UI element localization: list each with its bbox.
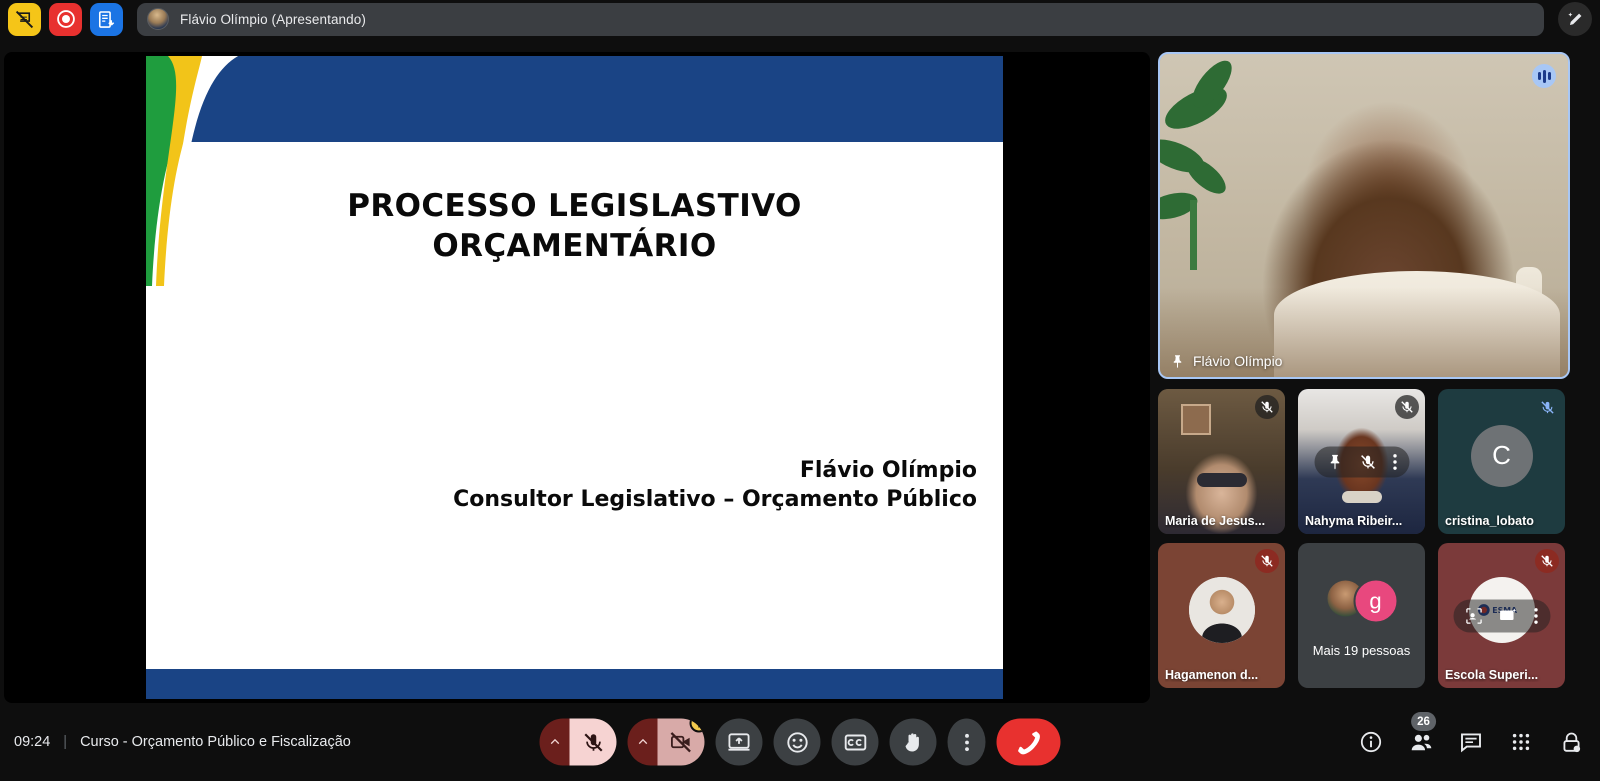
participant-count-badge: 26 [1411, 712, 1436, 731]
pin-icon[interactable] [1326, 453, 1343, 470]
mic-off-glyph [1260, 554, 1274, 568]
participant-tile-hagamenon[interactable]: Hagamenon d... [1158, 543, 1285, 688]
chat-glyph [1459, 730, 1483, 754]
present-button[interactable] [716, 719, 763, 766]
plant-decor-icon [1158, 60, 1274, 320]
more-options-icon[interactable] [1392, 453, 1397, 470]
notes-glyph [97, 10, 116, 29]
overflow-avatars: g [1325, 579, 1398, 624]
camera-off-button[interactable]: ! [628, 719, 705, 766]
pin-icon[interactable] [1170, 354, 1185, 369]
mic-off-glyph [1260, 400, 1274, 414]
magic-pencil-icon[interactable] [1558, 2, 1592, 36]
overflow-participants-tile[interactable]: g Mais 19 pessoas [1298, 543, 1425, 688]
slide-author-role: Consultor Legislativo – Orçamento Públic… [453, 485, 977, 514]
mic-off-icon [1535, 549, 1559, 573]
participant-name: cristina_lobato [1445, 514, 1559, 528]
call-controls: ! [540, 719, 1061, 766]
mic-off-glyph [582, 731, 604, 753]
lock-glyph [1560, 731, 1583, 754]
mic-off-glyph [1400, 400, 1414, 414]
info-glyph [1359, 730, 1383, 754]
avatar-initial: C [1471, 425, 1533, 487]
raise-hand-button[interactable] [890, 719, 937, 766]
present-to-me-icon[interactable] [1498, 606, 1517, 625]
slide-author-name: Flávio Olímpio [453, 456, 977, 485]
camera-off-icon[interactable]: ! [658, 719, 705, 766]
slide: PROCESSO LEGISLASTIVO ORÇAMENTÁRIO Flávi… [146, 56, 1003, 699]
notes-icon[interactable] [90, 3, 123, 36]
grid-glyph [1510, 731, 1532, 753]
people-icon[interactable]: 26 [1408, 729, 1434, 755]
presenter-chip[interactable]: Flávio Olímpio (Apresentando) [137, 3, 1544, 36]
present-icon [728, 731, 751, 754]
participant-name: Nahyma Ribeir... [1305, 514, 1419, 528]
mic-off-icon [1395, 395, 1419, 419]
screen-share-off-glyph [15, 10, 34, 29]
slide-title-line1: PROCESSO LEGISLASTIVO [216, 186, 933, 226]
avatar [147, 8, 169, 30]
info-icon[interactable] [1358, 729, 1384, 755]
more-options-button[interactable] [948, 719, 986, 766]
audio-level-icon [1532, 64, 1556, 88]
spotlight-icon[interactable] [1465, 607, 1482, 624]
mic-off-icon [1535, 395, 1559, 419]
mute-participant-icon[interactable] [1359, 453, 1376, 470]
separator: | [63, 734, 67, 750]
participant-name: Hagamenon d... [1165, 668, 1279, 682]
avatar [1189, 577, 1255, 643]
record-glyph [56, 9, 76, 29]
captions-button[interactable] [832, 719, 879, 766]
participant-tile-escola[interactable]: ESMA [1438, 543, 1565, 688]
chevron-up-glyph [548, 736, 561, 749]
chevron-up-glyph [636, 736, 649, 749]
slide-title: PROCESSO LEGISLASTIVO ORÇAMENTÁRIO [146, 186, 1003, 267]
participant-name: Maria de Jesus... [1165, 514, 1279, 528]
mic-off-icon[interactable] [570, 719, 617, 766]
main-tile-name-row: Flávio Olímpio [1170, 353, 1282, 369]
camera-options-chevron-up-icon[interactable] [628, 719, 658, 766]
slide-title-line2: ORÇAMENTÁRIO [216, 226, 933, 266]
main-speaker-tile[interactable]: Flávio Olímpio [1158, 52, 1570, 379]
meeting-name: Curso - Orçamento Público e Fiscalização [80, 734, 351, 750]
closed-captions-icon [843, 730, 867, 754]
activities-icon[interactable] [1508, 729, 1534, 755]
meet-window: Flávio Olímpio (Apresentando) PROCESSO L… [0, 0, 1600, 781]
top-bar: Flávio Olímpio (Apresentando) [0, 0, 1600, 38]
participant-tile-cristina[interactable]: C cristina_lobato [1438, 389, 1565, 534]
hangup-icon [1015, 728, 1043, 756]
mic-off-icon [1255, 549, 1279, 573]
slide-bottom-band [146, 669, 1003, 699]
hangup-button[interactable] [997, 719, 1061, 766]
necklace [1342, 491, 1382, 503]
host-controls-lock-icon[interactable] [1558, 729, 1584, 755]
right-controls: 26 [1358, 729, 1584, 755]
reactions-button[interactable] [774, 719, 821, 766]
tile-hover-controls [1314, 446, 1409, 477]
tile-hover-controls [1453, 599, 1550, 632]
screen-share-off-icon[interactable] [8, 3, 41, 36]
clock: 09:24 [14, 734, 50, 750]
mic-off-glyph [1540, 400, 1555, 415]
mic-off-icon [1255, 395, 1279, 419]
presentation-stage[interactable]: PROCESSO LEGISLASTIVO ORÇAMENTÁRIO Flávi… [4, 52, 1150, 703]
avatar-initial: g [1353, 579, 1398, 624]
overflow-label: Mais 19 pessoas [1298, 643, 1425, 658]
meeting-info: 09:24 | Curso - Orçamento Público e Fisc… [14, 734, 351, 750]
slide-top-band [146, 56, 1003, 142]
mic-off-button[interactable] [540, 719, 617, 766]
magic-pencil-glyph [1566, 10, 1585, 29]
mic-options-chevron-up-icon[interactable] [540, 719, 570, 766]
presenter-chip-label: Flávio Olímpio (Apresentando) [180, 12, 366, 27]
emoji-icon [785, 730, 809, 754]
participant-filmstrip: Flávio Olímpio Maria de Jesus... [1158, 52, 1572, 703]
main-tile-name: Flávio Olímpio [1193, 353, 1282, 369]
more-options-icon [964, 732, 969, 752]
more-options-icon[interactable] [1533, 607, 1538, 624]
record-icon[interactable] [49, 3, 82, 36]
slide-author: Flávio Olímpio Consultor Legislativo – O… [453, 456, 977, 514]
chat-icon[interactable] [1458, 729, 1484, 755]
bottom-bar: 09:24 | Curso - Orçamento Público e Fisc… [0, 703, 1600, 781]
participant-tile-nahyma[interactable]: Nahyma Ribeir... [1298, 389, 1425, 534]
raised-hand-icon [901, 730, 925, 754]
people-glyph [1409, 730, 1434, 755]
camera-off-glyph [670, 731, 693, 754]
participant-tile-maria[interactable]: Maria de Jesus... [1158, 389, 1285, 534]
glasses [1197, 473, 1247, 487]
participant-name: Escola Superi... [1445, 668, 1559, 682]
wall-picture [1181, 404, 1211, 436]
mic-off-glyph [1540, 554, 1554, 568]
